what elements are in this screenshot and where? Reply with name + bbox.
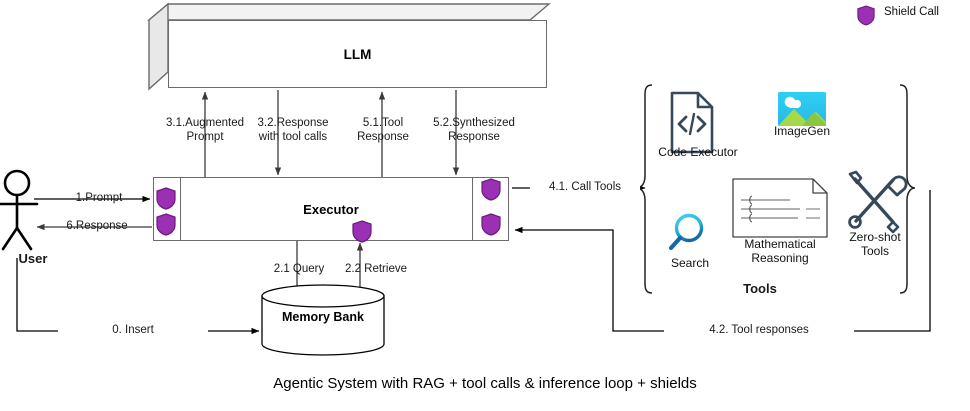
code-document-icon <box>672 93 712 152</box>
diagram-caption: Agentic System with RAG + tool calls & i… <box>0 375 970 392</box>
image-picture-icon <box>778 92 826 126</box>
edge-label-synthesized: 5.2.Synthesized Response <box>404 117 544 144</box>
shield-icon-executor-in-bottom[interactable] <box>156 213 176 236</box>
shield-icon-legend <box>857 5 875 26</box>
executor-node[interactable]: Executor <box>153 177 509 241</box>
wrench-screwdriver-icon <box>850 172 907 232</box>
magnifying-glass-icon <box>671 216 702 249</box>
edge-label-prompt: 1.Prompt <box>44 192 154 206</box>
user-stick-figure <box>0 171 37 249</box>
llm-label: LLM <box>344 47 372 62</box>
executor-label: Executor <box>154 202 508 217</box>
memory-bank-label: Memory Bank <box>262 310 384 324</box>
legend-label: Shield Call <box>884 6 939 18</box>
edge-label-query: 2.1 Query <box>259 263 339 277</box>
edge-label-response: 6.Response <box>42 220 152 234</box>
formula-document-icon <box>733 179 827 237</box>
shield-icon-memory[interactable] <box>352 220 372 243</box>
diagram-canvas: LLM Executor Memory Bank User 1.Prompt 6… <box>0 0 970 411</box>
edge-label-call-tools: 4.1. Call Tools <box>530 181 640 195</box>
llm-node-face: LLM <box>168 20 547 88</box>
edge-insert-line <box>17 258 259 331</box>
tool-label-imagegen: ImageGen <box>762 124 842 138</box>
edge-label-retrieve: 2.2 Retrieve <box>330 263 422 277</box>
tool-label-search: Search <box>654 256 726 270</box>
user-label: User <box>0 252 66 266</box>
edge-label-insert: 0. Insert <box>58 324 208 338</box>
edge-label-tool-responses: 4.2. Tool responses <box>664 324 854 338</box>
llm-node[interactable]: LLM <box>149 4 549 89</box>
tools-group-label: Tools <box>700 282 820 296</box>
tool-label-code-executor: Code Executor <box>648 145 748 159</box>
memory-bank-node[interactable]: Memory Bank <box>262 286 384 354</box>
shield-icon-executor-out-top[interactable] <box>481 178 501 201</box>
tool-label-zero-shot-tools: Zero-shot Tools <box>836 230 914 258</box>
shield-icon-executor-in-top[interactable] <box>156 187 176 210</box>
tool-label-mathematical-reasoning: Mathematical Reasoning <box>730 237 830 265</box>
shield-icon-executor-out-bottom[interactable] <box>481 213 501 236</box>
